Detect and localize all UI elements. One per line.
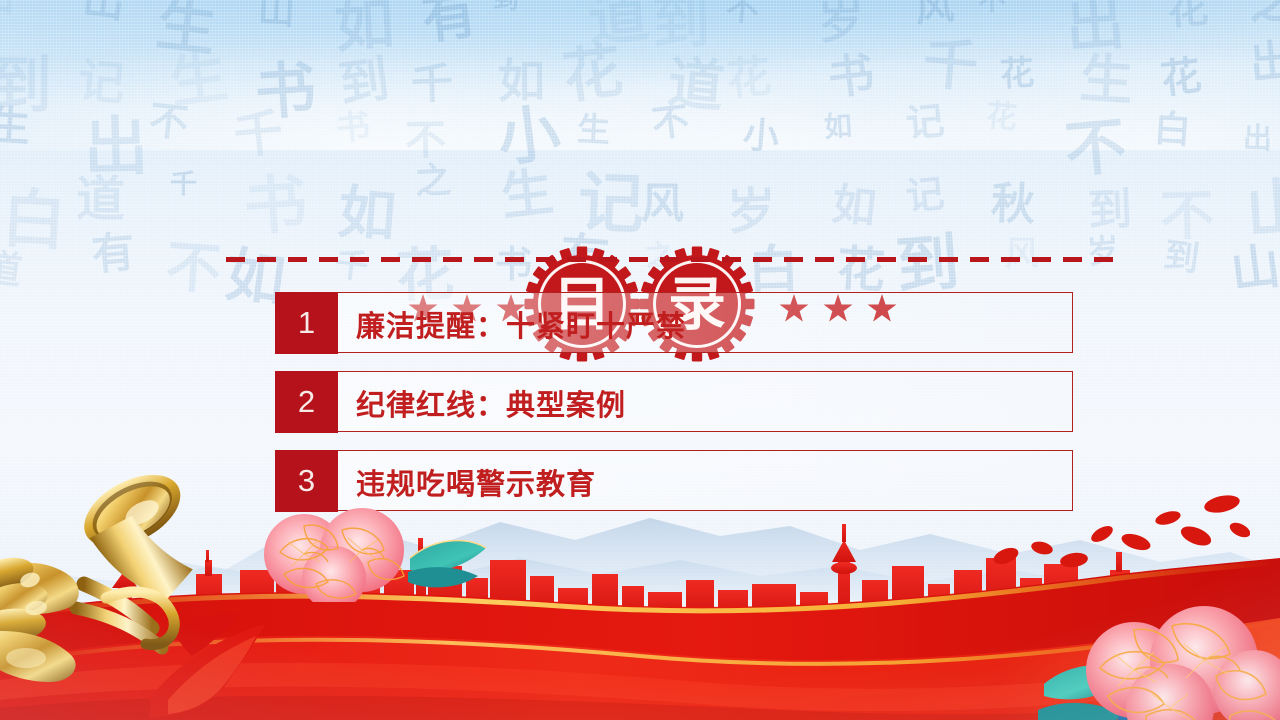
watermark-char: 花 xyxy=(999,56,1035,92)
watermark-char: 如 xyxy=(498,58,545,105)
watermark-char: 风 xyxy=(913,0,955,29)
watermark-char: 有 xyxy=(419,0,481,46)
watermark-char: 不 xyxy=(978,0,1007,15)
watermark-char: 到 xyxy=(651,0,711,53)
slide-header: 目 录 xyxy=(0,118,1280,248)
toc-number-badge: 3 xyxy=(275,450,338,512)
watermark-char: 花 xyxy=(559,40,625,106)
watermark-char: 之 xyxy=(1248,0,1280,28)
toc-item-1[interactable]: 1 廉洁提醒：十紧盯十严禁 xyxy=(275,292,1073,353)
table-of-contents: 1 廉洁提醒：十紧盯十严禁 2 纪律红线：典型案例 3 违规吃喝警示教育 xyxy=(275,292,1073,529)
watermark-char: 书 xyxy=(825,50,876,101)
watermark-char: 千 xyxy=(921,35,981,95)
watermark-char: 生 xyxy=(153,0,219,60)
watermark-char: 花 xyxy=(836,245,887,296)
watermark-char: 到 xyxy=(0,54,52,118)
watermark-char: 白 xyxy=(747,244,800,297)
watermark-char: 花 xyxy=(725,55,773,103)
watermark-char: 道 xyxy=(0,248,24,291)
watermark-char: 山 xyxy=(257,0,296,30)
watermark-char: 记 xyxy=(76,57,127,108)
watermark-char: 如 xyxy=(333,0,396,56)
toc-item-label: 廉洁提醒：十紧盯十严禁 xyxy=(356,293,686,354)
watermark-char: 花 xyxy=(1166,0,1210,31)
toc-item-3[interactable]: 3 违规吃喝警示教育 xyxy=(275,450,1073,511)
golden-trumpet-icon xyxy=(0,458,236,698)
watermark-char: 到 xyxy=(492,0,520,14)
watermark-char: 生 xyxy=(166,47,230,111)
watermark-char: 岁 xyxy=(817,0,865,46)
watermark-char: 山 xyxy=(0,0,15,16)
watermark-char: 花 xyxy=(1159,56,1204,101)
watermark-char: 出 xyxy=(1248,39,1280,87)
watermark-char: 千 xyxy=(410,62,454,106)
dashed-divider xyxy=(226,257,1120,262)
toc-item-label: 纪律红线：典型案例 xyxy=(356,372,626,433)
watermark-char: 出 xyxy=(1064,0,1127,56)
presentation-slide: 山出生山如有到道到不岁风不出花之到记生书到千如花道花书千花生花出生出不千书不小生… xyxy=(0,0,1280,720)
red-silk-ribbon xyxy=(0,540,1280,720)
watermark-char: 不 xyxy=(724,0,760,27)
toc-item-label: 违规吃喝警示教育 xyxy=(356,451,596,512)
watermark-char: 千 xyxy=(333,247,370,284)
watermark-char: 道 xyxy=(585,0,651,51)
watermark-char: 道 xyxy=(665,54,726,115)
toc-number-badge: 2 xyxy=(275,371,338,433)
watermark-char: 出 xyxy=(80,0,127,25)
watermark-char: 书 xyxy=(253,59,318,124)
toc-item-2[interactable]: 2 纪律红线：典型案例 xyxy=(275,371,1073,432)
watermark-char: 到 xyxy=(336,54,392,110)
toc-number-badge: 1 xyxy=(275,292,338,354)
watermark-char: 山 xyxy=(1228,241,1280,296)
watermark-char: 生 xyxy=(1078,52,1135,109)
pink-peony-icon xyxy=(1038,564,1280,720)
